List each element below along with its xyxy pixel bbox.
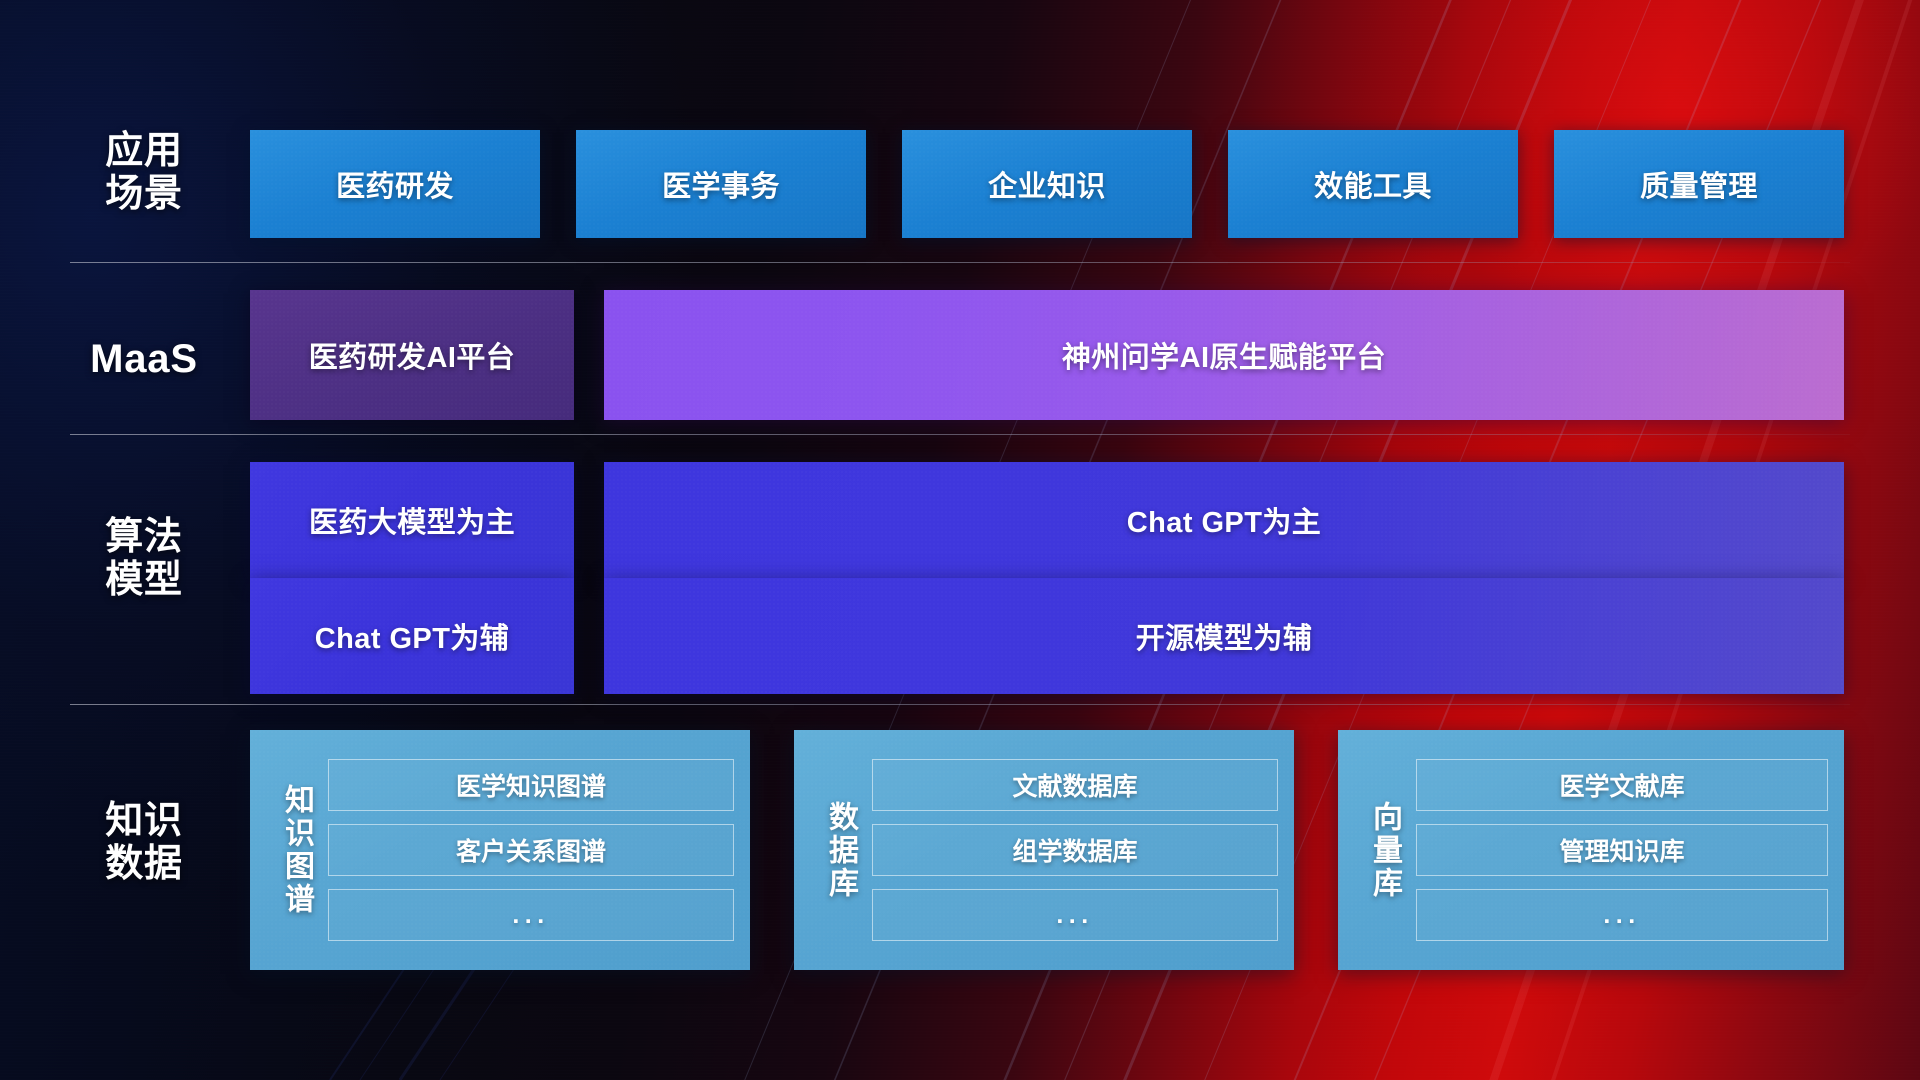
knowledge-item-label: 组学数据库	[1012, 832, 1137, 868]
app-card-4-label: 效能工具	[1314, 163, 1432, 205]
knowledge-group-database-title: 数据库	[808, 744, 872, 956]
divider-after-application	[70, 262, 1850, 263]
knowledge-group-graph[interactable]: 知识图谱 医学知识图谱 客户关系图谱 ...	[250, 730, 750, 970]
algo-card-secondary-gpt[interactable]: Chat GPT为辅	[250, 578, 574, 694]
knowledge-group-database-items: 文献数据库 组学数据库 ...	[872, 744, 1278, 956]
app-card-1-label: 医药研发	[336, 163, 454, 205]
app-card-2-label: 医学事务	[662, 163, 780, 205]
app-card-1[interactable]: 医药研发	[250, 130, 540, 238]
app-card-5[interactable]: 质量管理	[1554, 130, 1844, 238]
architecture-diagram: 应用 场景 医药研发 医学事务 企业知识 效能工具 质量管理 MaaS 医药研发…	[0, 0, 1920, 1080]
knowledge-item[interactable]: 管理知识库	[1416, 824, 1828, 876]
algo-card-primary-gpt-label: Chat GPT为主	[1127, 499, 1321, 541]
app-card-4[interactable]: 效能工具	[1228, 130, 1518, 238]
row-label-maas: MaaS	[74, 337, 214, 382]
row-label-algorithm-model: 算法 模型	[74, 516, 214, 601]
divider-after-algorithm	[70, 704, 1850, 705]
knowledge-item-more[interactable]: ...	[872, 889, 1278, 941]
knowledge-item[interactable]: 医学知识图谱	[328, 759, 734, 811]
algo-card-secondary-opensource[interactable]: 开源模型为辅	[604, 578, 1844, 694]
algo-card-secondary-opensource-label: 开源模型为辅	[1136, 615, 1313, 657]
algo-card-primary-gpt[interactable]: Chat GPT为主	[604, 462, 1844, 578]
maas-card-enablement-label: 神州问学AI原生赋能平台	[1062, 334, 1386, 376]
divider-after-maas	[70, 434, 1850, 435]
knowledge-group-vector-title: 向量库	[1352, 744, 1416, 956]
app-card-2[interactable]: 医学事务	[576, 130, 866, 238]
maas-card-platform[interactable]: 医药研发AI平台	[250, 290, 574, 420]
knowledge-item-label: ...	[1056, 901, 1093, 930]
maas-card-platform-label: 医药研发AI平台	[309, 334, 515, 376]
app-card-5-label: 质量管理	[1640, 163, 1758, 205]
knowledge-group-vector-items: 医学文献库 管理知识库 ...	[1416, 744, 1828, 956]
knowledge-item-label: 客户关系图谱	[456, 832, 606, 868]
app-card-3-label: 企业知识	[988, 163, 1106, 205]
knowledge-item[interactable]: 医学文献库	[1416, 759, 1828, 811]
knowledge-item-label: 管理知识库	[1559, 832, 1684, 868]
knowledge-group-graph-items: 医学知识图谱 客户关系图谱 ...	[328, 744, 734, 956]
maas-card-enablement[interactable]: 神州问学AI原生赋能平台	[604, 290, 1844, 420]
knowledge-item-label: ...	[512, 901, 549, 930]
algo-card-primary-pharma-label: 医药大模型为主	[309, 499, 515, 541]
algo-card-primary-pharma[interactable]: 医药大模型为主	[250, 462, 574, 578]
knowledge-group-database[interactable]: 数据库 文献数据库 组学数据库 ...	[794, 730, 1294, 970]
algo-card-secondary-gpt-label: Chat GPT为辅	[315, 615, 509, 657]
app-card-3[interactable]: 企业知识	[902, 130, 1192, 238]
knowledge-item-label: ...	[1603, 901, 1640, 930]
knowledge-item-label: 医学文献库	[1559, 767, 1684, 803]
knowledge-item-more[interactable]: ...	[328, 889, 734, 941]
knowledge-group-vector[interactable]: 向量库 医学文献库 管理知识库 ...	[1338, 730, 1844, 970]
knowledge-item[interactable]: 组学数据库	[872, 824, 1278, 876]
knowledge-item-label: 文献数据库	[1012, 767, 1137, 803]
row-label-application-scenarios: 应用 场景	[74, 130, 214, 215]
knowledge-group-graph-title: 知识图谱	[264, 744, 328, 956]
knowledge-item-label: 医学知识图谱	[456, 767, 606, 803]
row-label-knowledge-data: 知识 数据	[74, 800, 214, 885]
knowledge-item[interactable]: 客户关系图谱	[328, 824, 734, 876]
knowledge-item-more[interactable]: ...	[1416, 889, 1828, 941]
knowledge-item[interactable]: 文献数据库	[872, 759, 1278, 811]
